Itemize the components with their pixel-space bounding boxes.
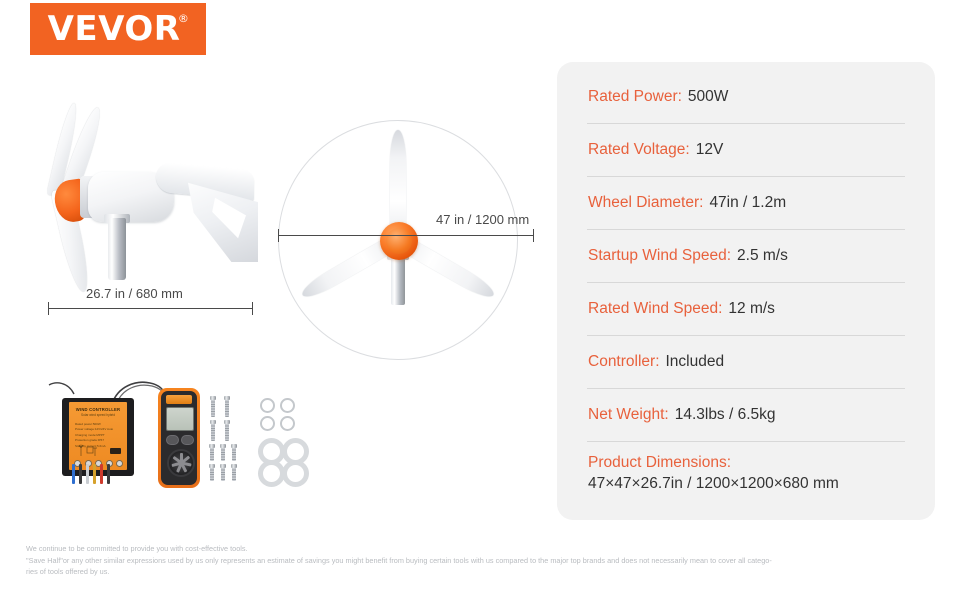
anemometer-button-left[interactable]: [166, 435, 179, 445]
bolt-set: [208, 396, 252, 482]
spec-row-controller: Controller: Included: [587, 336, 905, 389]
flat-washer: [282, 460, 309, 487]
dimension-tick-left: [48, 302, 49, 315]
bolt-head: [209, 464, 215, 468]
footer-disclaimer: We continue to be committed to provide y…: [26, 543, 956, 578]
spec-row-product-dimensions: Product Dimensions: 47×47×26.7in / 1200×…: [587, 442, 905, 508]
specifications-panel: Rated Power: 500W Rated Voltage: 12V Whe…: [557, 62, 935, 520]
bolt-head: [209, 444, 215, 448]
turbine-hub-inner: [386, 228, 412, 254]
bolt-shaft: [225, 424, 228, 441]
spec-row-wheel-diameter: Wheel Diameter: 47in / 1.2m: [587, 177, 905, 230]
turbine-side-view-image: [28, 100, 258, 300]
dimension-tick-right: [252, 302, 253, 315]
anemometer-lcd-screen: [166, 407, 194, 431]
spec-value: 500W: [688, 88, 729, 106]
washer-set: [258, 398, 314, 480]
spec-label: Startup Wind Speed:: [588, 247, 731, 265]
vevor-logo: VEVOR®: [30, 3, 206, 55]
dimension-line: [48, 308, 253, 309]
bolt-head: [224, 396, 230, 400]
bolt-shaft: [211, 424, 214, 441]
spec-row-rated-power: Rated Power: 500W: [587, 71, 905, 124]
anemometer-button-right[interactable]: [181, 435, 194, 445]
specifications-list: Rated Power: 500W Rated Voltage: 12V Whe…: [587, 62, 905, 529]
spec-value: 12 m/s: [728, 300, 775, 318]
spec-label: Product Dimensions:: [588, 454, 905, 472]
controller-wiring-diagram-icon: [78, 444, 100, 457]
spec-row-net-weight: Net Weight: 14.3lbs / 6.5kg: [587, 389, 905, 442]
bolt-shaft: [225, 400, 228, 417]
turbine-front-view-image: [273, 115, 533, 365]
controller-dip-switch: [110, 448, 121, 454]
wire: [100, 464, 103, 484]
anemometer-fan-icon: [167, 449, 195, 477]
spec-row-rated-voltage: Rated Voltage: 12V: [587, 124, 905, 177]
spec-value: 47×47×26.7in / 1200×1200×680 mm: [588, 475, 905, 493]
lock-washer: [280, 398, 295, 413]
wire: [72, 464, 75, 484]
bolt-head: [210, 420, 216, 424]
spec-label: Net Weight:: [588, 406, 669, 424]
disclaimer-line-3: ries of tools offered by us.: [26, 566, 956, 578]
anemometer-body: [161, 391, 197, 485]
controller-wire-bundle: [70, 464, 128, 488]
dimension-depth-label: 26.7 in / 680 mm: [86, 286, 183, 301]
controller-label-face: WIND CONTROLLER Solar wind speed hybrid …: [69, 402, 127, 470]
spec-label: Wheel Diameter:: [588, 194, 703, 212]
dimension-tick-right: [533, 229, 534, 242]
spec-label: Rated Power:: [588, 88, 682, 106]
brand-name-text: VEVOR: [48, 9, 181, 49]
flat-washer: [258, 460, 285, 487]
controller-subtitle: Solar wind speed hybrid: [69, 413, 127, 417]
lock-washer: [260, 398, 275, 413]
spec-value: 12V: [696, 141, 724, 159]
bolt-shaft: [221, 468, 224, 481]
bolt-head: [231, 464, 237, 468]
spec-label: Controller:: [588, 353, 660, 371]
bolt-shaft: [221, 448, 224, 461]
wire: [86, 464, 89, 484]
bolt-head: [224, 420, 230, 424]
disclaimer-line-2: "Save Half"or any other similar expressi…: [26, 555, 956, 567]
dimension-tick-left: [278, 229, 279, 242]
lock-washer: [280, 416, 295, 431]
wire: [107, 464, 110, 484]
anemometer-brand-strip: [166, 395, 192, 404]
wire: [93, 464, 96, 484]
bolt-head: [220, 464, 226, 468]
dimension-diameter-label: 47 in / 1200 mm: [436, 212, 529, 227]
spec-value: 47in / 1.2m: [709, 194, 786, 212]
bolt-head: [220, 444, 226, 448]
wire: [79, 464, 82, 484]
anemometer-device: [158, 388, 200, 488]
bolt-shaft: [210, 448, 213, 461]
bolt-shaft: [232, 468, 235, 481]
disclaimer-line-1: We continue to be committed to provide y…: [26, 543, 956, 555]
bolt-head: [210, 396, 216, 400]
spec-value: Included: [666, 353, 725, 371]
spec-row-rated-wind-speed: Rated Wind Speed: 12 m/s: [587, 283, 905, 336]
turbine-mast: [108, 218, 126, 280]
accessories-image: WIND CONTROLLER Solar wind speed hybrid …: [60, 388, 290, 488]
anemometer-wrist-strap: [46, 380, 76, 396]
spec-value: 14.3lbs / 6.5kg: [675, 406, 776, 424]
bolt-shaft: [232, 448, 235, 461]
registered-trademark-icon: ®: [178, 13, 190, 24]
spec-label: Rated Voltage:: [588, 141, 690, 159]
spec-row-startup-wind-speed: Startup Wind Speed: 2.5 m/s: [587, 230, 905, 283]
bolt-head: [231, 444, 237, 448]
bolt-shaft: [211, 400, 214, 417]
vevor-wordmark: VEVOR®: [48, 12, 189, 46]
controller-title: WIND CONTROLLER: [69, 407, 127, 412]
product-image-stage: 26.7 in / 680 mm 47 in / 1200 mm: [0, 70, 545, 520]
spec-value: 2.5 m/s: [737, 247, 788, 265]
turbine-mast: [391, 257, 405, 305]
lock-washer: [260, 416, 275, 431]
bolt-shaft: [210, 468, 213, 481]
spec-label: Rated Wind Speed:: [588, 300, 722, 318]
dimension-line: [278, 235, 534, 236]
